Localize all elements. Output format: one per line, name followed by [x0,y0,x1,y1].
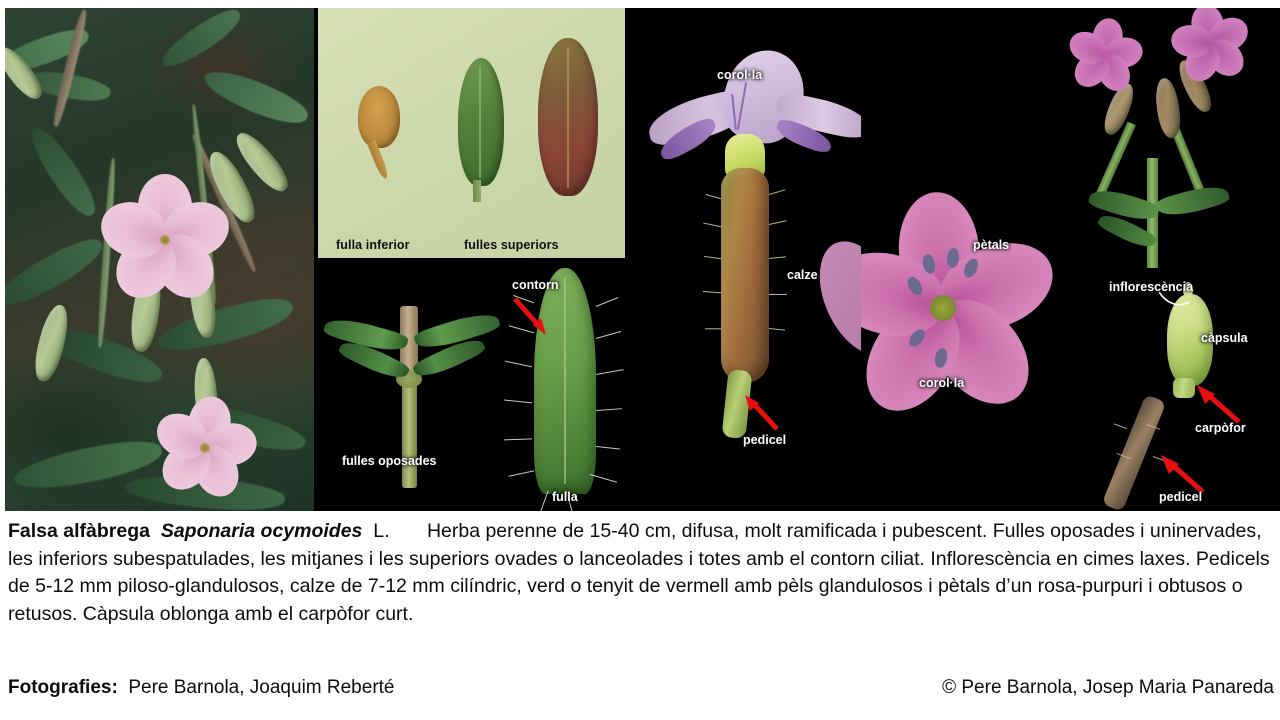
glandular-hair [769,328,785,331]
cilium [596,408,622,411]
label-petals: pètals [973,238,1009,252]
credits-footer: Fotografies: Pere Barnola, Joaquim Reber… [8,676,1274,700]
leaf-plate-panel: fulla inferior fulles superiors [318,8,625,258]
carpofor-arrow [1189,382,1245,426]
common-name: Falsa alfàbrega [8,520,150,542]
leaf-cilia-panel: contorn fulla [504,262,625,511]
opposite-leaves-panel: fulles oposades [318,262,504,511]
flower-center [200,443,210,453]
leaf-midrib [564,278,566,484]
adjacent-petal [804,229,861,367]
label-contorn: contorn [512,278,559,292]
glandular-hair [704,256,721,260]
cilium [596,446,620,450]
cilium [504,438,532,440]
cilium [504,399,532,404]
scientific-name: Saponaria ocymoides [161,520,363,542]
cilium [596,297,619,307]
glandular-hair [769,256,786,259]
photo-plate: fulla inferior fulles superiors fulles o… [5,8,1280,511]
cilium [508,470,534,477]
photographers-label: Fotografies: [8,677,118,698]
lower-leaf-blade [358,86,400,148]
pedicel-arrow [737,393,783,433]
caption-fulla-inferior: fulla inferior [336,238,410,252]
label-capsula: càpsula [1201,331,1248,345]
calyx-bud [1153,77,1183,139]
cilium [596,369,624,375]
label-calze: calze [787,268,818,282]
label-corolla: corol·la [919,376,964,390]
habitat-photo-panel [5,8,314,511]
authority: L. [373,520,389,542]
caption-fulles-superiors: fulles superiors [464,238,559,252]
cilium [504,360,532,367]
calyx-panel: corol·la calze pedicel [629,8,861,511]
label-inflorescencia: inflorescència [1109,280,1193,294]
label-fulla: fulla [552,490,578,504]
label-corolla: corol·la [717,68,762,82]
glandular-hair [769,220,787,225]
open-flower-panel: pètals corol·la [861,8,1061,511]
twig-shape [51,9,90,128]
contorn-arrow [510,296,554,338]
photographers-names: Pere Barnola, Joaquim Reberté [128,677,394,698]
glandular-hair [705,328,721,329]
label-carpofor: carpòfor [1195,421,1246,435]
calyx-tube [721,168,769,383]
branch-stem [1095,122,1136,199]
leaf-midrib [479,66,481,178]
species-description: Falsa alfàbrega Saponaria ocymoides L. H… [8,518,1274,628]
flower-center [160,235,170,245]
label-fulles-oposades: fulles oposades [342,454,436,468]
glandular-hair [769,189,786,195]
cilium [590,474,617,483]
glandular-hair [705,194,721,200]
inflorescence-panel: inflorescència càpsula carpòfor pedicel [1061,8,1280,511]
label-pedicel: pedicel [1159,490,1202,504]
leaf-shape [5,232,109,315]
upper-leaf-green [458,58,504,186]
glandular-hair [703,291,721,294]
leaf-shape [200,61,313,133]
leaf-shape [24,120,102,223]
stem-lower [402,378,417,488]
label-pedicel: pedicel [743,433,786,447]
leaf-shape [155,8,246,73]
upper-leaf-stalk [473,180,481,202]
cilium [596,331,621,340]
leaf-midrib [567,48,569,188]
glandular-hair [769,294,787,295]
pedicel-hair [1114,423,1128,429]
photographers: Fotografies: Pere Barnola, Joaquim Reber… [8,676,395,700]
flower-center [930,295,956,321]
copyright-notice: © Pere Barnola, Josep Maria Panareda [942,676,1274,700]
leaf-shape [153,292,297,359]
glandular-hair [703,222,721,227]
